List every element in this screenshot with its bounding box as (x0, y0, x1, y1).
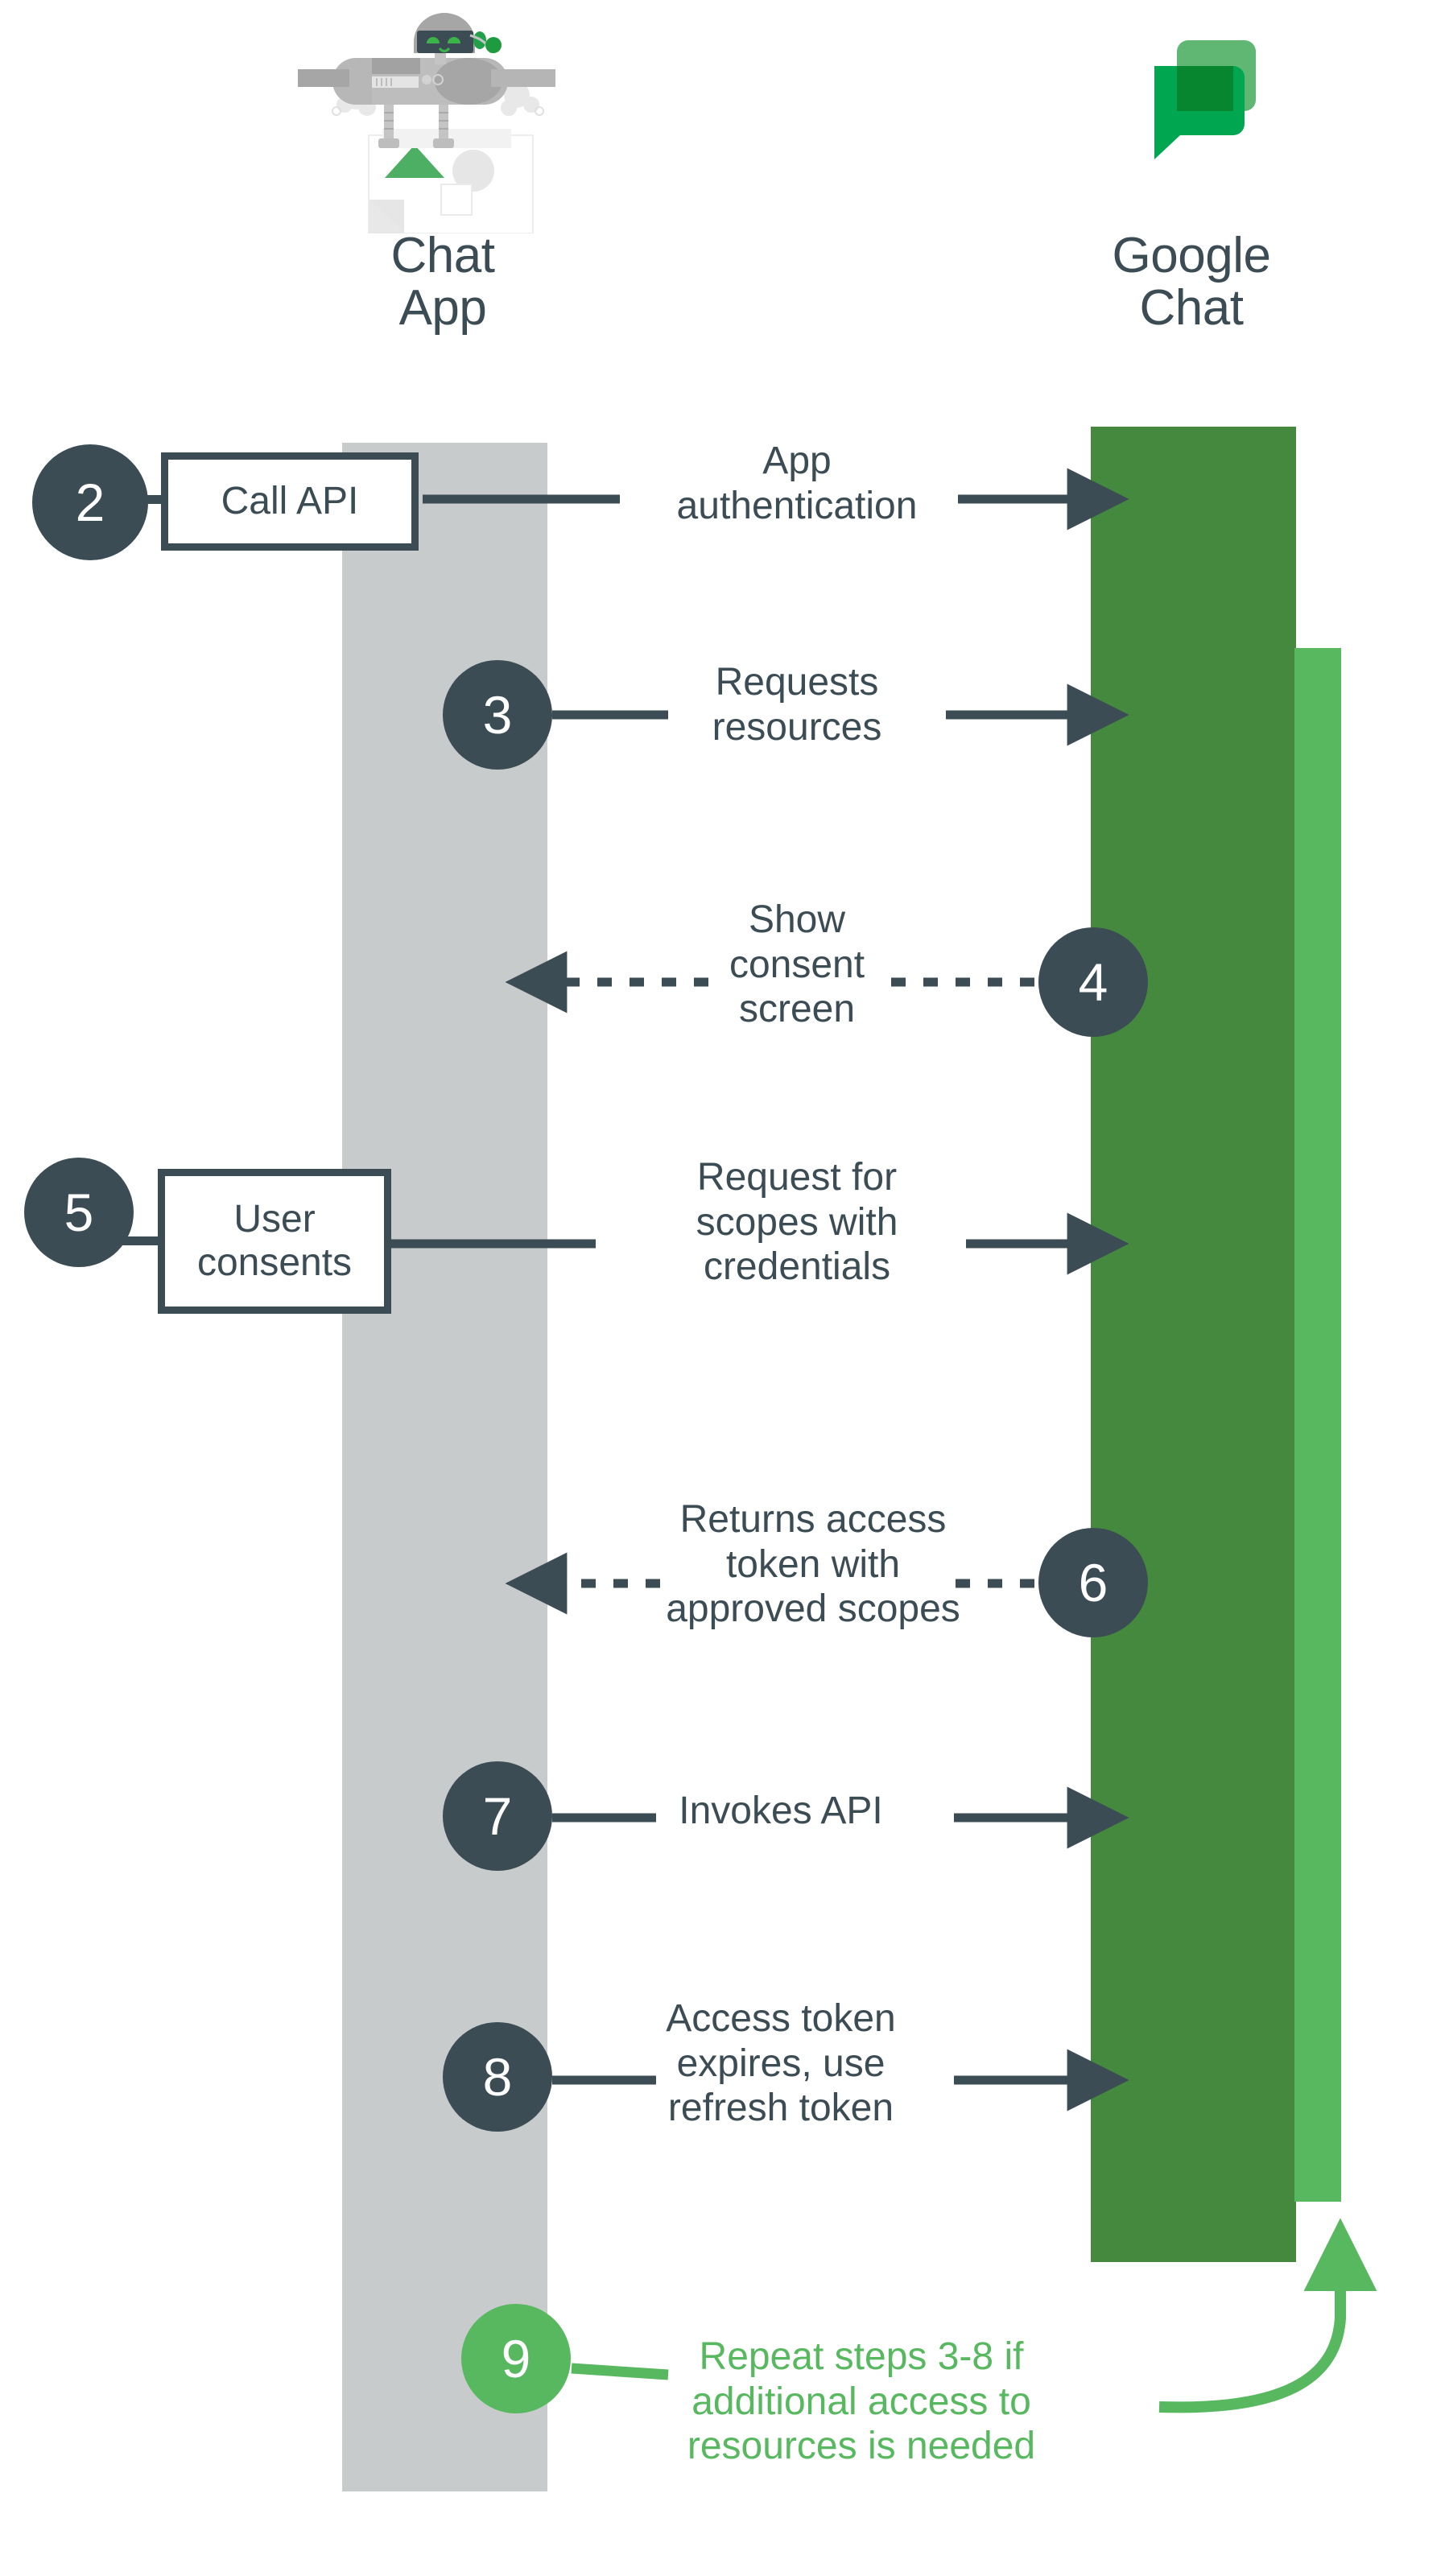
step-badge-7[interactable]: 7 (443, 1761, 552, 1871)
chat-app-title-line1: Chat (233, 229, 652, 282)
action-box-user-consents-label: User consents (197, 1198, 352, 1285)
google-chat-logo-icon (1103, 16, 1264, 177)
message-label-step-6-line2: token with (596, 1542, 1030, 1587)
step-badge-4[interactable]: 4 (1038, 927, 1148, 1037)
google-chat-column-title: Google Chat (982, 229, 1401, 334)
message-label-step-4-line1: Show (612, 898, 982, 943)
message-label-step-5: Request for scopes with credentials (596, 1155, 998, 1290)
step-badge-9[interactable]: 9 (461, 2304, 571, 2413)
step-badge-6-number: 6 (1079, 1556, 1108, 1609)
google-chat-title-line1: Google (982, 229, 1401, 282)
step-badge-2-number: 2 (76, 476, 105, 529)
chat-app-column-title: Chat App (233, 229, 652, 334)
step-badge-3-number: 3 (483, 688, 513, 741)
message-label-step-6-line3: approved scopes (596, 1587, 1030, 1632)
message-label-step-3: Requests resources (612, 660, 982, 749)
google-chat-lifeline-secondary (1294, 648, 1341, 2202)
message-label-step-8: Access token expires, use refresh token (596, 1996, 966, 2131)
message-label-step-9-line1: Repeat steps 3-8 if (620, 2334, 1103, 2380)
action-box-call-api[interactable]: Call API (161, 452, 419, 551)
message-label-step-3-line1: Requests (612, 660, 982, 705)
message-label-step-3-line2: resources (612, 705, 982, 750)
message-label-step-2: App authentication (612, 439, 982, 528)
message-label-step-2-line2: authentication (612, 484, 982, 529)
message-label-step-4: Show consent screen (612, 898, 982, 1032)
step-badge-7-number: 7 (483, 1790, 513, 1843)
message-label-step-5-line1: Request for (596, 1155, 998, 1200)
message-label-step-4-line3: screen (612, 987, 982, 1032)
message-label-step-2-line1: App (612, 439, 982, 484)
step-badge-9-number: 9 (502, 2332, 531, 2385)
chat-app-robot-icon (298, 0, 596, 233)
sequence-diagram: Chat App Google Chat (0, 0, 1449, 2576)
google-chat-lifeline-primary (1091, 427, 1296, 2262)
message-label-step-4-line2: consent (612, 943, 982, 988)
message-label-step-7: Invokes API (596, 1789, 966, 1834)
step-badge-8-number: 8 (483, 2050, 513, 2103)
step-badge-3[interactable]: 3 (443, 660, 552, 770)
loop-arrow-step-9 (1159, 2282, 1340, 2407)
step-badge-6[interactable]: 6 (1038, 1528, 1148, 1637)
message-label-step-9-line3: resources is needed (620, 2424, 1103, 2469)
message-label-step-9: Repeat steps 3-8 if additional access to… (620, 2334, 1103, 2469)
message-label-step-7-line1: Invokes API (596, 1789, 966, 1834)
step-badge-5-number: 5 (64, 1186, 94, 1239)
google-chat-title-line2: Chat (982, 282, 1401, 334)
step-badge-8[interactable]: 8 (443, 2022, 552, 2132)
message-label-step-6-line1: Returns access (596, 1497, 1030, 1542)
message-label-step-5-line2: scopes with (596, 1200, 998, 1245)
message-label-step-5-line3: credentials (596, 1245, 998, 1290)
message-label-step-8-line2: expires, use (596, 2041, 966, 2087)
message-label-step-6: Returns access token with approved scope… (596, 1497, 1030, 1632)
message-label-step-8-line3: refresh token (596, 2086, 966, 2131)
chat-app-title-line2: App (233, 282, 652, 334)
message-label-step-9-line2: additional access to (620, 2380, 1103, 2425)
action-box-user-consents-line2: consents (197, 1241, 352, 1284)
step-badge-5[interactable]: 5 (24, 1158, 134, 1267)
action-box-user-consents-line1: User (233, 1198, 315, 1241)
action-box-call-api-label: Call API (221, 480, 359, 523)
step-badge-4-number: 4 (1079, 956, 1108, 1009)
action-box-user-consents[interactable]: User consents (158, 1169, 391, 1314)
message-label-step-8-line1: Access token (596, 1996, 966, 2041)
